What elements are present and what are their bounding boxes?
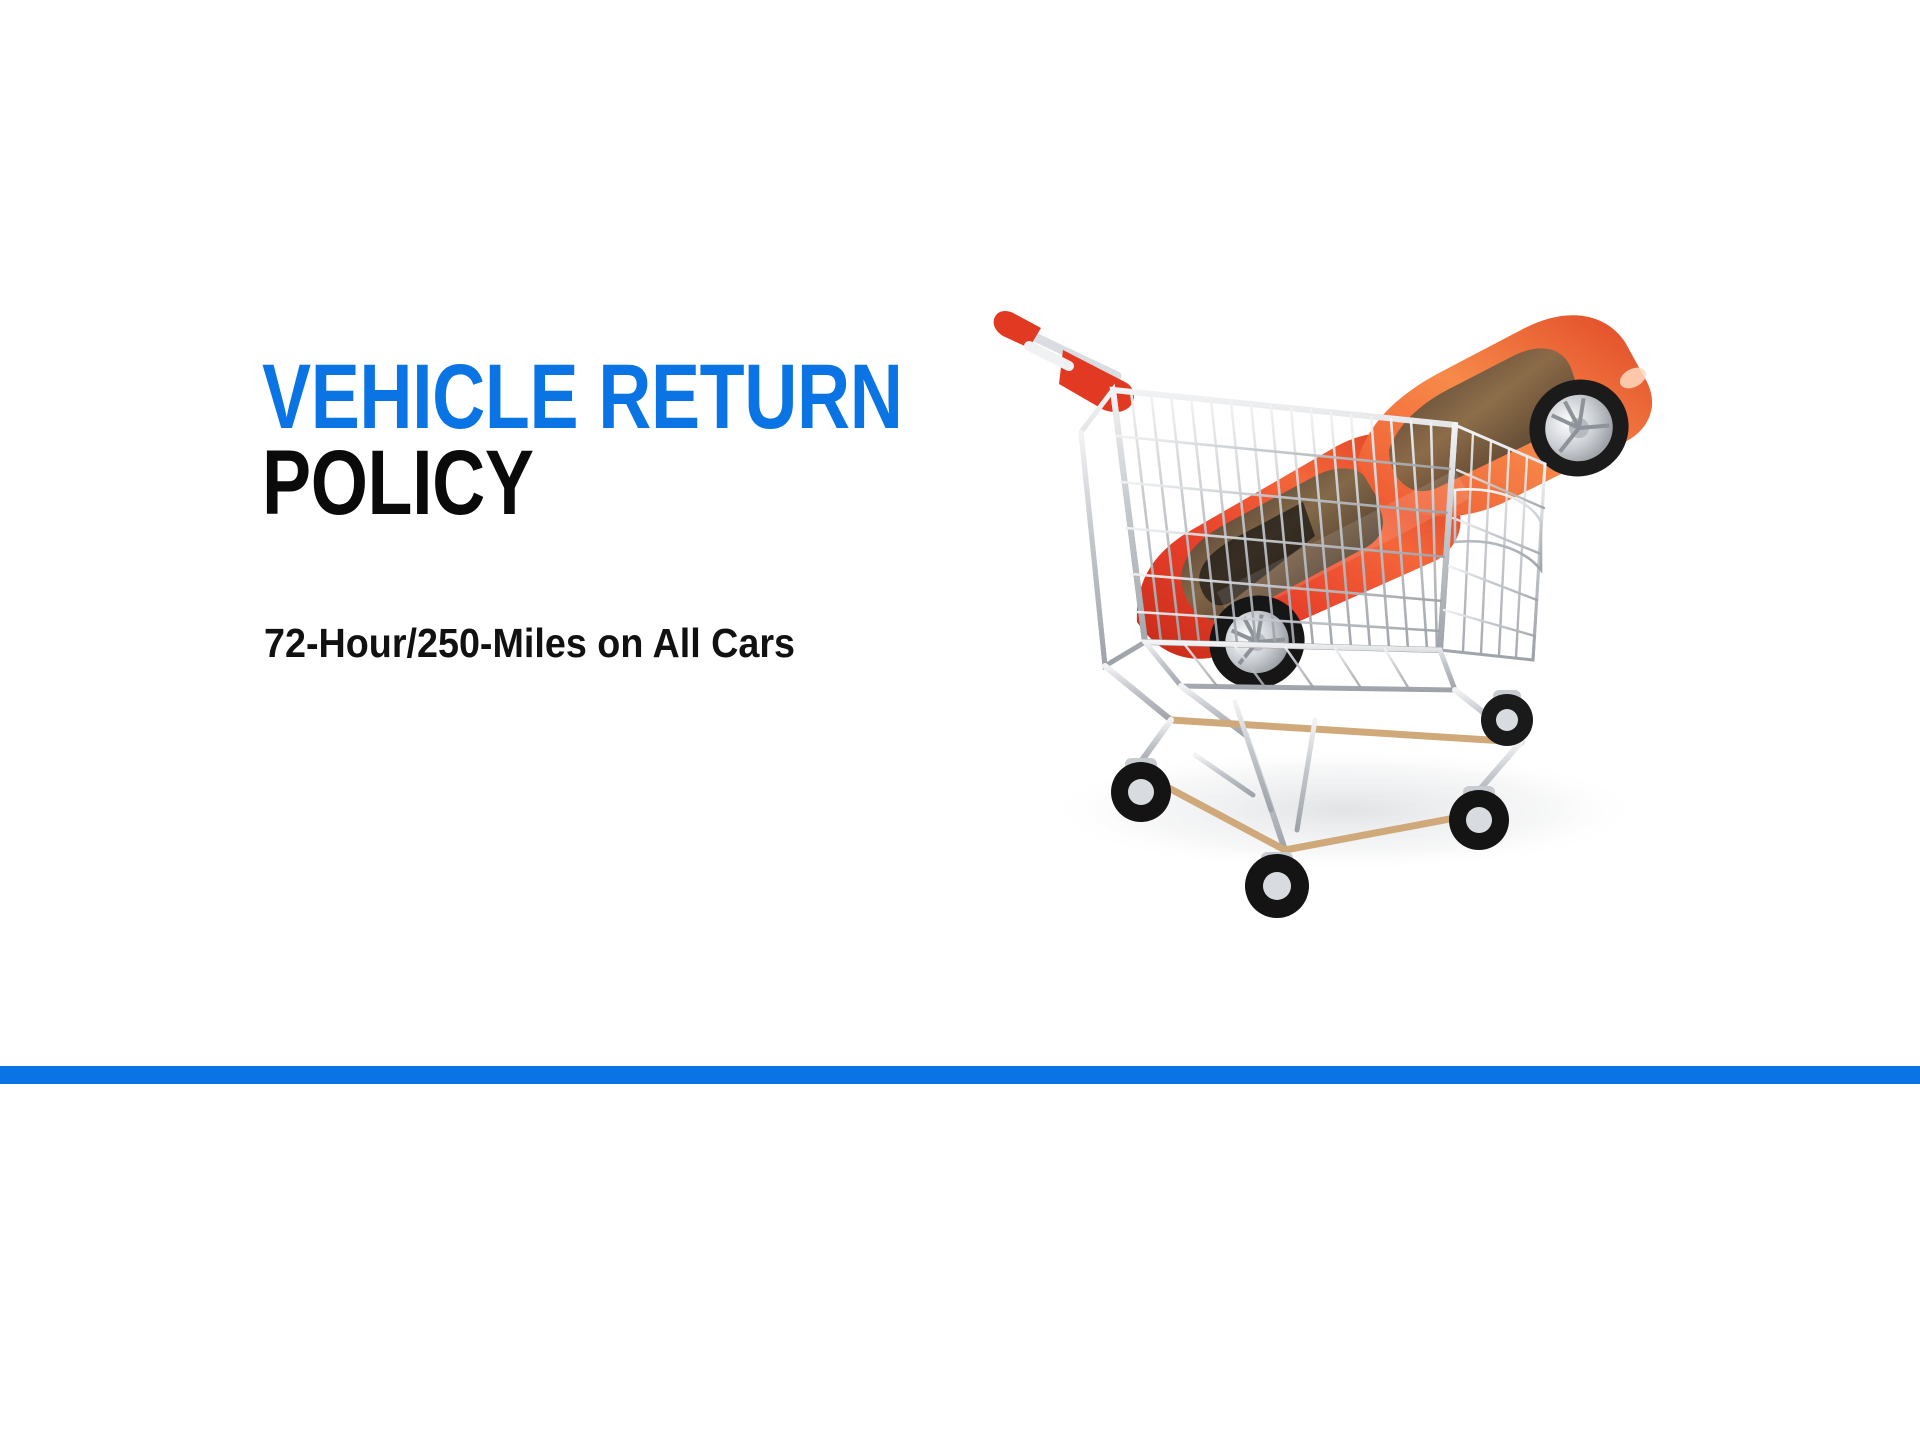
subtitle-text: 72-Hour/250-Miles on All Cars	[264, 620, 795, 667]
headline-line-primary: VEHICLE RETURN	[262, 355, 982, 441]
blue-divider-bar	[0, 1066, 1920, 1084]
hero-photo-car-in-shopping-cart	[985, 250, 1705, 930]
headline-line-secondary: POLICY	[262, 441, 982, 527]
slide-canvas: VEHICLE RETURN POLICY 72-Hour/250-Miles …	[0, 0, 1920, 1440]
footer-bar: NO BRAINER CHECKOUT TM DGDG BE HAPPY	[0, 1084, 1920, 1440]
